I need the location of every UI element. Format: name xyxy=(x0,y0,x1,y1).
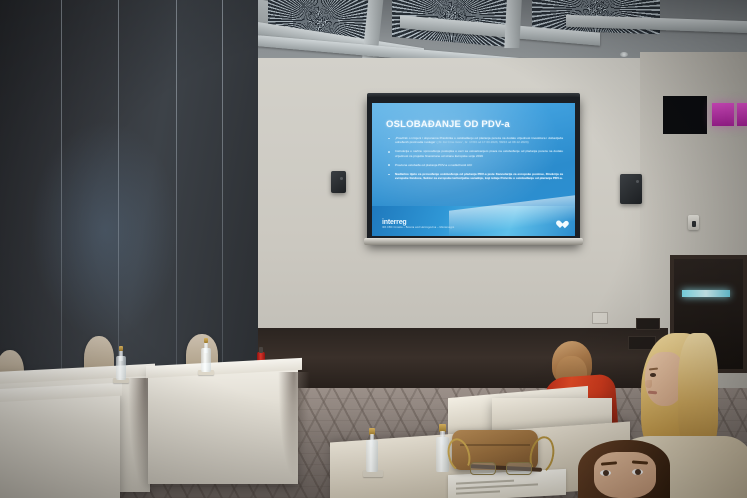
glasses-lens xyxy=(506,462,532,475)
bottle-body xyxy=(366,440,378,472)
slide-bullet-list: „Pravilnik o izmjeni i dopunama Pravilni… xyxy=(387,136,563,185)
hair xyxy=(678,333,718,451)
lips xyxy=(648,391,657,395)
wall-plate xyxy=(636,318,660,330)
glasses-lens xyxy=(470,462,496,475)
slide-bullet: Praviona oslobađa od plaćanja PDV-a u na… xyxy=(387,163,563,167)
eye xyxy=(650,373,656,377)
screen-bottom-bar xyxy=(364,238,583,245)
wall-speaker-icon xyxy=(331,171,346,193)
door-light-strip xyxy=(682,290,730,297)
accent-light-panel xyxy=(737,103,747,126)
paper-line xyxy=(456,490,500,494)
table xyxy=(148,368,298,484)
water-bottle[interactable] xyxy=(366,428,378,472)
presentation-slide: OSLOBAĐANJE OD PDV-a „Pravilnik o izmjen… xyxy=(372,103,575,236)
eyeglasses[interactable] xyxy=(470,462,534,474)
accent-light-recess xyxy=(663,96,707,134)
paper-line xyxy=(456,483,538,489)
wall-panel-seam xyxy=(61,0,62,420)
slide-bullet-subtext: („Sl. list Crne Gore“, br. 17/23 od 17.0… xyxy=(436,140,528,144)
wall-panel-seam xyxy=(176,0,177,420)
wall-speaker-icon xyxy=(620,174,642,204)
wall-panel-seam xyxy=(222,0,223,420)
wall-outlet xyxy=(592,312,608,324)
bottle-body xyxy=(201,348,211,372)
water-bottle[interactable] xyxy=(116,346,126,380)
pupil xyxy=(635,469,641,475)
left-wall-panelling xyxy=(0,0,258,420)
conference-room-photo: OSLOBAĐANJE OD PDV-a „Pravilnik o izmjen… xyxy=(0,0,747,498)
slide-footer: interreg IPA CBC Croatia – Bosnia and He… xyxy=(372,206,575,236)
ceiling-downlight-icon xyxy=(620,52,628,57)
interreg-logo-secondary: IPA CBC Croatia – Bosnia and Herzegovina… xyxy=(382,227,454,230)
ceiling-beam xyxy=(504,0,522,48)
slide-bullet: „Pravilnik o izmjeni i dopunama Pravilni… xyxy=(387,136,563,144)
motion-sensor-icon xyxy=(688,215,699,230)
slide-bullet: Nadležno tijelo za provođenje oslobođenj… xyxy=(387,172,563,180)
nose xyxy=(645,380,652,388)
pupil xyxy=(603,470,609,476)
heart-icon xyxy=(556,221,565,230)
interreg-logo: interreg IPA CBC Croatia – Bosnia and He… xyxy=(382,219,454,230)
water-bottle[interactable] xyxy=(201,338,211,372)
table xyxy=(0,392,120,498)
slide-title: OSLOBAĐANJE OD PDV-a xyxy=(386,119,510,130)
slide-bullet: Instrukcija o načinu sprovođenja postupk… xyxy=(387,149,563,157)
paper-line xyxy=(456,480,514,485)
accent-light-panel xyxy=(712,103,734,126)
bottle-body xyxy=(116,356,126,380)
wall-light-glow xyxy=(30,120,180,340)
table-skirt-fold xyxy=(278,372,310,478)
